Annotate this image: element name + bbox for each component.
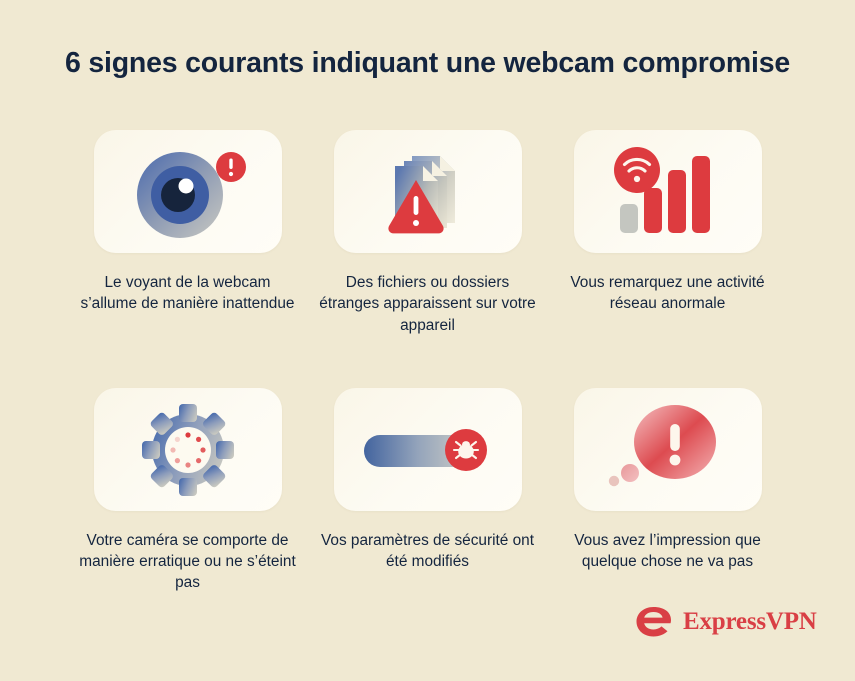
sign-caption-2: Des fichiers ou dossiers étranges appara… [315,272,540,336]
expressvpn-logo[interactable]: ExpressVPN [634,604,817,640]
sign-caption-3: Vous remarquez une activité réseau anorm… [555,272,780,315]
sign-item-6: Vous avez l’impression que quelque chose… [548,388,788,594]
icon-card-1 [94,130,282,253]
icon-card-5 [334,388,522,511]
sign-caption-4: Votre caméra se comporte de manière erra… [75,530,300,594]
icon-card-4 [94,388,282,511]
files-warning-icon [334,130,522,253]
expressvpn-e-mark-icon [634,604,674,640]
webcam-eye-alert-icon [94,130,282,253]
icon-card-6 [574,388,762,511]
sign-caption-5: Vos paramètres de sécurité ont été modif… [315,530,540,573]
sign-item-4: Votre caméra se comporte de manière erra… [68,388,308,594]
icon-card-2 [334,130,522,253]
sign-item-3: Vous remarquez une activité réseau anorm… [548,130,788,336]
gear-spinner-icon [94,388,282,511]
signs-row-1: Le voyant de la webcam s’allume de maniè… [0,130,855,336]
toggle-bug-icon [334,388,522,511]
signs-grid: Le voyant de la webcam s’allume de maniè… [0,130,855,594]
signs-row-2: Votre caméra se comporte de manière erra… [0,388,855,594]
icon-card-3 [574,130,762,253]
sign-item-2: Des fichiers ou dossiers étranges appara… [308,130,548,336]
infographic-page: 6 signes courants indiquant une webcam c… [0,0,855,681]
sign-item-1: Le voyant de la webcam s’allume de maniè… [68,130,308,336]
sign-item-5: Vos paramètres de sécurité ont été modif… [308,388,548,594]
page-title: 6 signes courants indiquant une webcam c… [0,46,855,80]
thought-bubble-exclamation-icon [574,388,762,511]
sign-caption-6: Vous avez l’impression que quelque chose… [555,530,780,573]
expressvpn-wordmark: ExpressVPN [683,608,817,636]
sign-caption-1: Le voyant de la webcam s’allume de maniè… [75,272,300,315]
network-signal-wifi-icon [574,130,762,253]
